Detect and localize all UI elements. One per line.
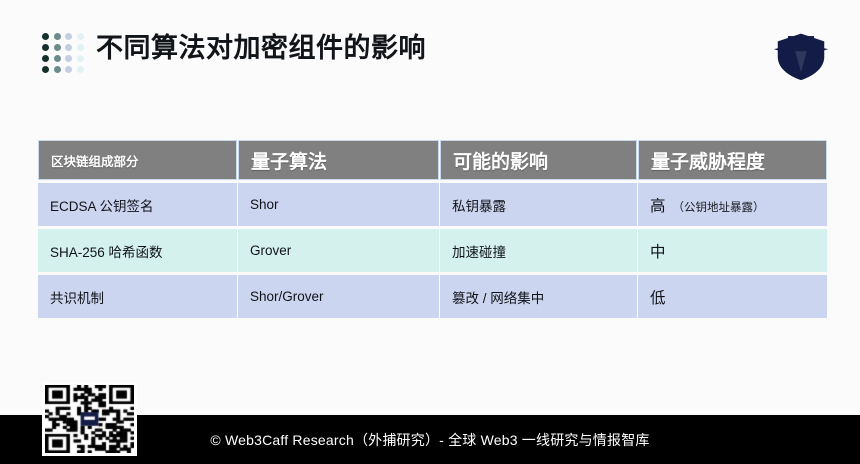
threat-level-value: 中 — [650, 244, 666, 261]
impact-table-wrapper: 区块链组成部分 量子算法 可能的影响 量子威胁程度 ECDSA 公钥签名 Sho… — [37, 137, 823, 321]
cell-component: 共识机制 — [38, 275, 237, 318]
qr-code-icon[interactable] — [42, 382, 137, 456]
page-title: 不同算法对加密组件的影响 — [96, 31, 426, 65]
table-row: SHA-256 哈希函数 Grover 加速碰撞 中 — [38, 229, 827, 272]
cell-threat-level: 低 — [638, 275, 827, 318]
cell-threat-level: 高（公钥地址暴露） — [638, 183, 827, 226]
dot-grid-decoration-icon — [40, 31, 86, 75]
cell-threat-level: 中 — [638, 229, 827, 272]
table-header-row: 区块链组成部分 量子算法 可能的影响 量子威胁程度 — [38, 140, 827, 180]
table-row: ECDSA 公钥签名 Shor 私钥暴露 高（公钥地址暴露） — [38, 183, 827, 226]
column-header-algorithm: 量子算法 — [238, 140, 439, 180]
eagle-shield-logo-icon — [770, 22, 832, 84]
threat-level-value: 低 — [650, 290, 666, 307]
table-row: 共识机制 Shor/Grover 篡改 / 网络集中 低 — [38, 275, 827, 318]
threat-level-value: 高 — [650, 198, 666, 215]
column-header-threat-level: 量子威胁程度 — [638, 140, 827, 180]
column-header-component: 区块链组成部分 — [38, 140, 237, 180]
column-header-impact: 可能的影响 — [440, 140, 637, 180]
cell-component: ECDSA 公钥签名 — [38, 183, 237, 226]
cell-impact: 私钥暴露 — [440, 183, 637, 226]
cell-impact: 加速碰撞 — [440, 229, 637, 272]
cell-impact: 篡改 / 网络集中 — [440, 275, 637, 318]
cell-component: SHA-256 哈希函数 — [38, 229, 237, 272]
slide-header: 不同算法对加密组件的影响 — [0, 0, 860, 110]
cell-algorithm: Shor — [238, 183, 439, 226]
algorithm-impact-table: 区块链组成部分 量子算法 可能的影响 量子威胁程度 ECDSA 公钥签名 Sho… — [37, 137, 828, 321]
cell-algorithm: Grover — [238, 229, 439, 272]
threat-level-note: （公钥地址暴露） — [673, 202, 765, 214]
cell-algorithm: Shor/Grover — [238, 275, 439, 318]
